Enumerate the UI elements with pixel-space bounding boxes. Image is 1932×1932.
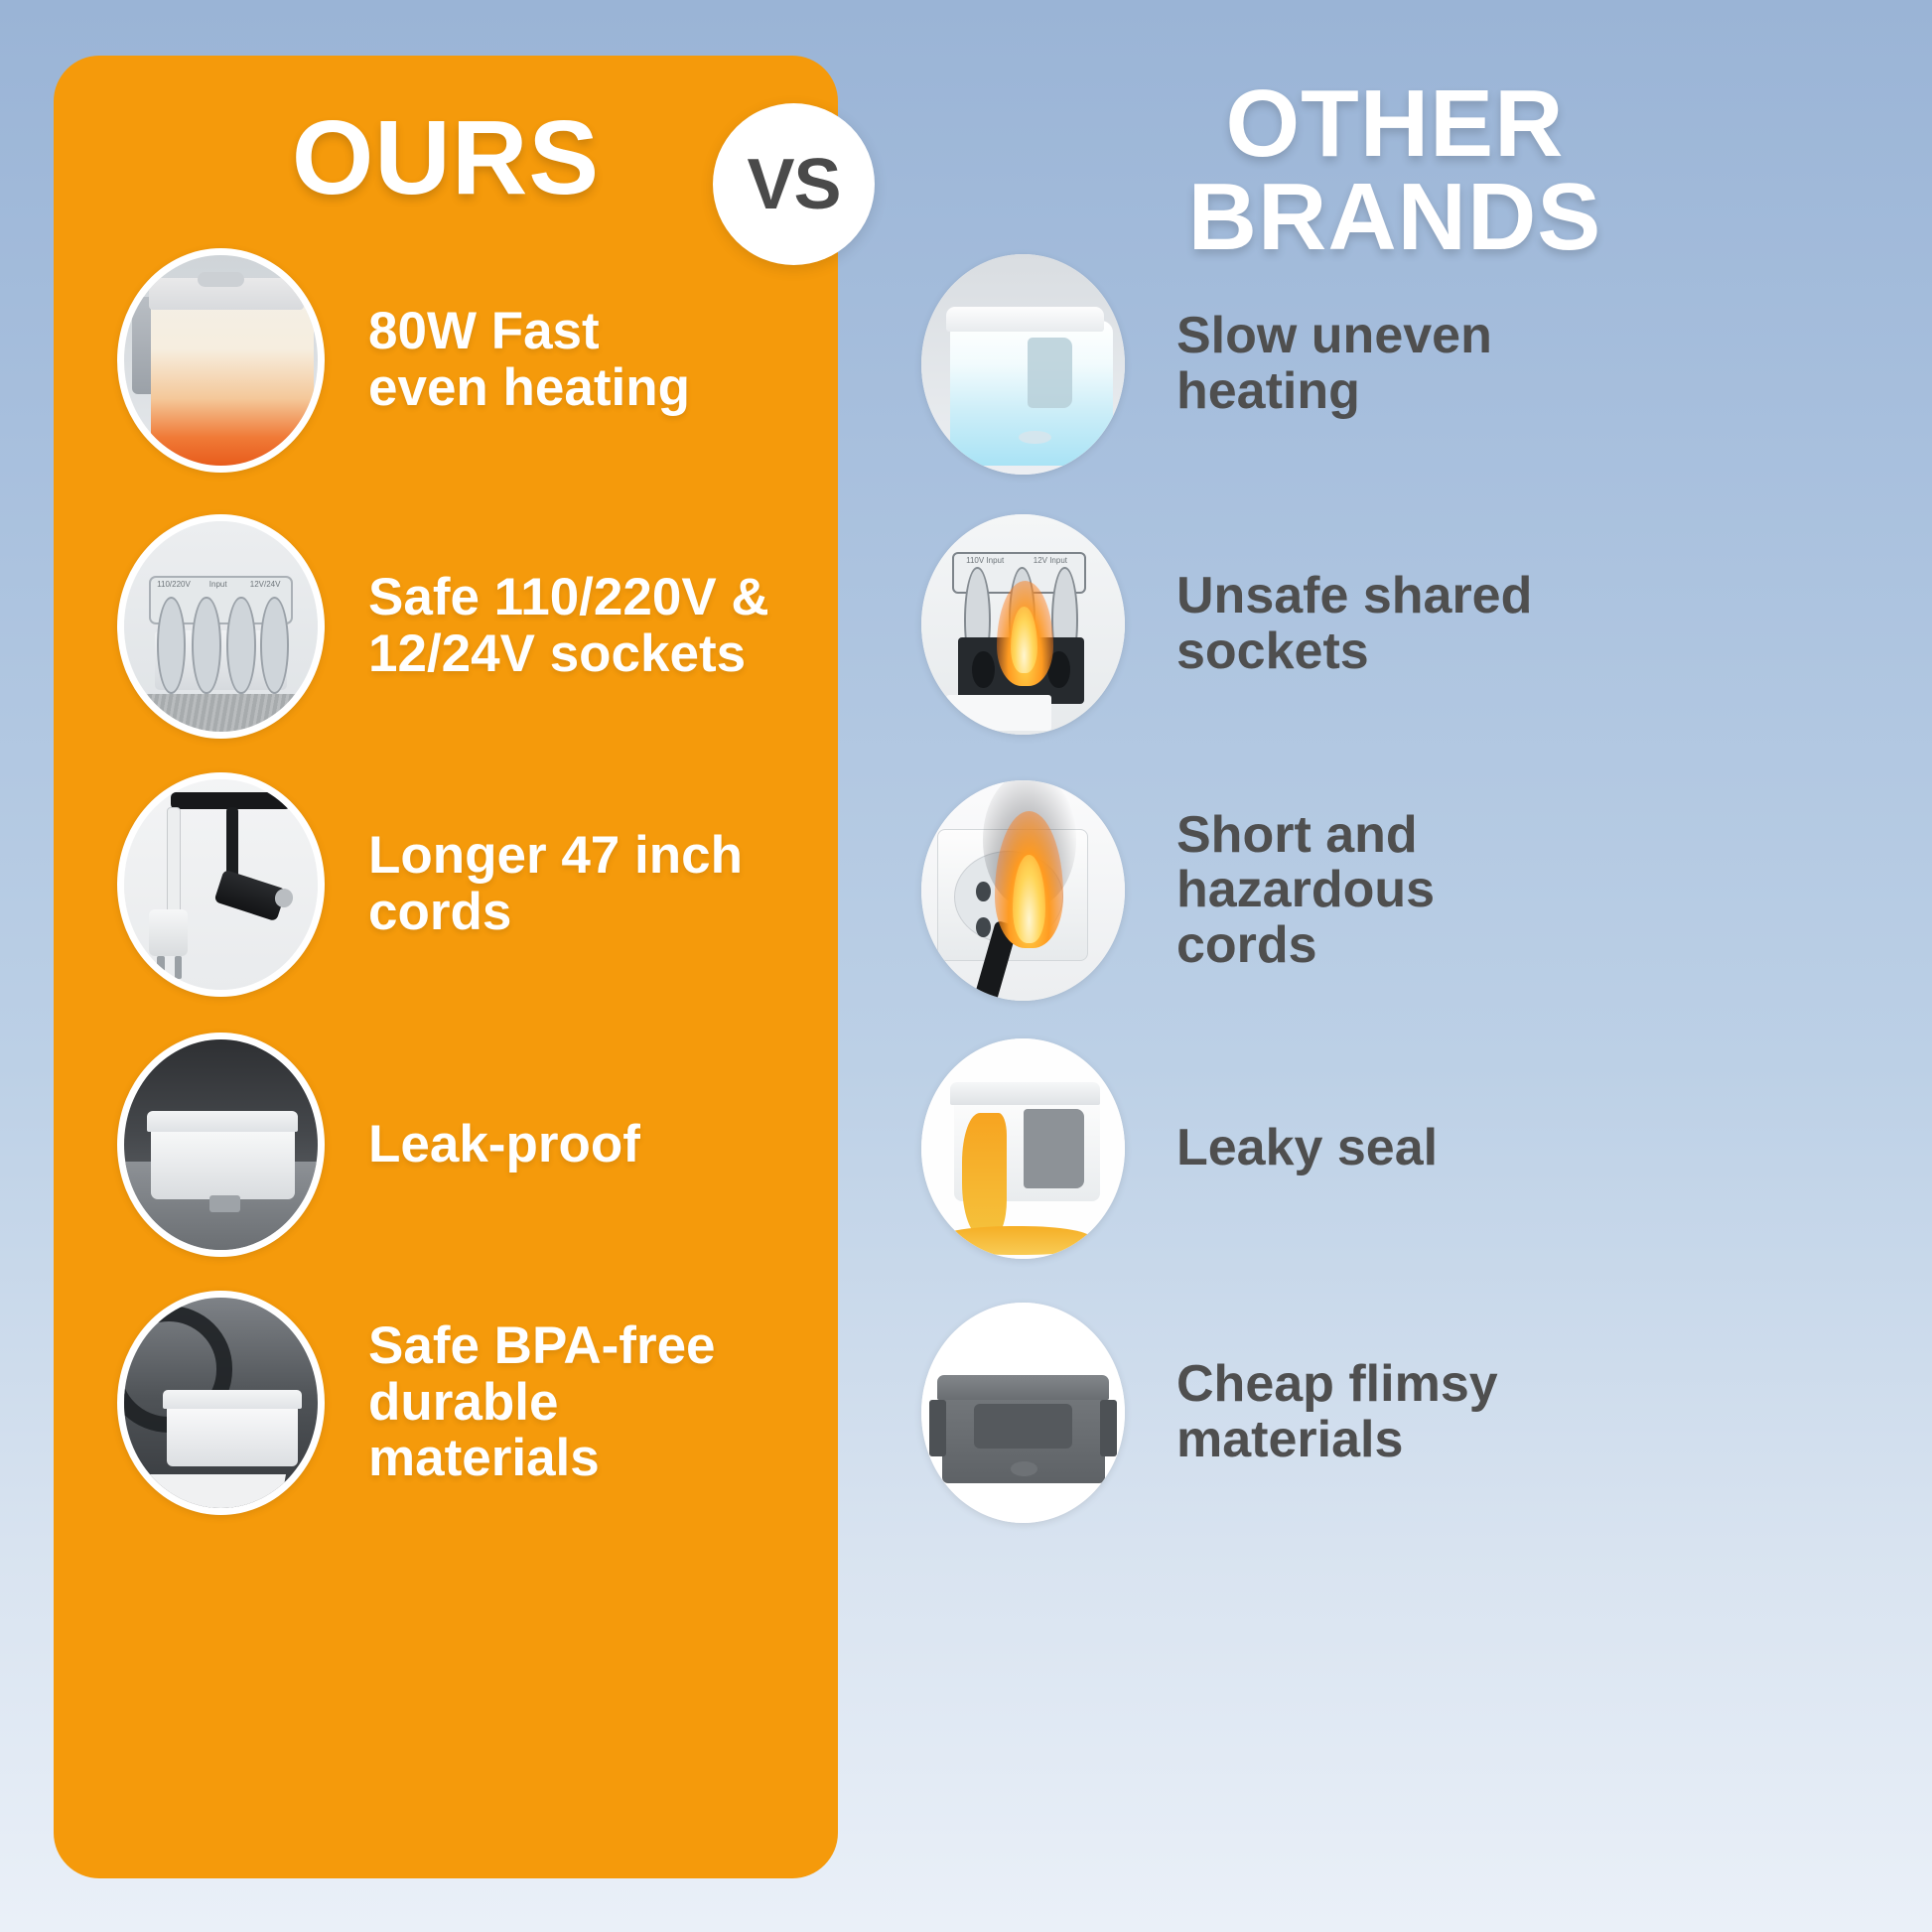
other-feature-label: Cheap flimsymaterials — [1176, 1357, 1498, 1467]
other-feature-row: Cheap flimsymaterials — [921, 1303, 1904, 1523]
power-cord-and-car-adapter-photo — [117, 772, 325, 997]
burning-wall-outlet-photo — [921, 780, 1125, 1001]
ours-feature-row: 80W Fasteven heating — [117, 248, 812, 473]
other-feature-label: Leaky seal — [1176, 1121, 1438, 1176]
ours-feature-row: Longer 47 inchcords — [117, 772, 812, 997]
other-brands-heading: OTHERBRANDS — [894, 77, 1896, 264]
other-feature-label: Short andhazardouscords — [1176, 808, 1435, 974]
ours-feature-row: Leak-proof — [117, 1033, 812, 1257]
ours-feature-label: Safe BPA-freedurablematerials — [368, 1318, 716, 1487]
vs-badge: VS — [713, 103, 875, 265]
other-feature-label: Slow unevenheating — [1176, 309, 1492, 419]
vs-label: VS — [747, 144, 840, 225]
other-feature-row: Short andhazardouscords — [921, 780, 1904, 1001]
heated-lunch-box-photo — [117, 248, 325, 473]
burning-shared-socket-photo: 110V Input 12V Input — [921, 514, 1125, 735]
other-feature-row: Slow unevenheating — [921, 254, 1904, 475]
ours-feature-row: 110/220V Input 12V/24V Safe 110/220V &12… — [117, 514, 812, 739]
ours-feature-label: Safe 110/220V &12/24V sockets — [368, 570, 769, 682]
other-feature-row: Leaky seal — [921, 1038, 1904, 1259]
dual-voltage-socket-photo: 110/220V Input 12V/24V — [117, 514, 325, 739]
lunch-box-in-car-seat-photo — [117, 1033, 325, 1257]
ours-feature-label: 80W Fasteven heating — [368, 304, 690, 416]
other-feature-label: Unsafe sharedsockets — [1176, 569, 1532, 679]
lunch-box-on-dashboard-photo — [117, 1291, 325, 1515]
other-feature-row: 110V Input 12V Input Unsafe sharedsocket… — [921, 514, 1904, 735]
ours-feature-label: Leak-proof — [368, 1117, 640, 1173]
ours-feature-row: Safe BPA-freedurablematerials — [117, 1291, 812, 1515]
cold-blue-lunch-box-photo — [921, 254, 1125, 475]
cheap-grey-lunch-box-photo — [921, 1303, 1125, 1523]
ours-feature-label: Longer 47 inchcords — [368, 828, 743, 940]
leaking-lunch-box-photo — [921, 1038, 1125, 1259]
